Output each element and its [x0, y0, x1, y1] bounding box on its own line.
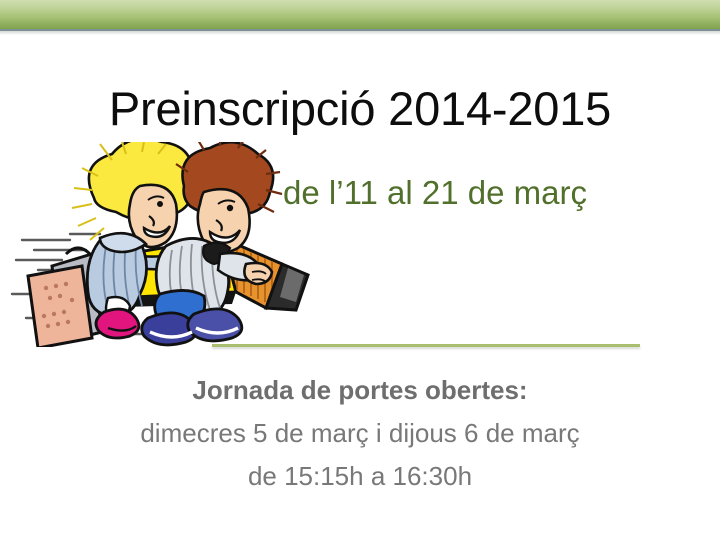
decorative-green-band: [0, 0, 720, 29]
two-children-riding-pencil-clipart: [8, 142, 314, 347]
page-title: Preinscripció 2014-2015: [0, 82, 720, 136]
book: [28, 266, 92, 347]
girl-shoe: [96, 309, 139, 338]
open-day-heading: Jornada de portes obertes:: [60, 369, 660, 412]
open-day-dates: dimecres 5 de març i dijous 6 de març: [60, 412, 660, 455]
open-day-hours: de 15:15h a 16:30h: [60, 455, 660, 498]
horizontal-divider: [212, 344, 640, 347]
boy-hand: [244, 263, 272, 284]
boy-eye: [227, 205, 233, 211]
slide-canvas: Preinscripció 2014-2015 de l’11 al 21 de…: [0, 0, 720, 540]
girl-eye: [157, 201, 163, 207]
open-day-info-block: Jornada de portes obertes: dimecres 5 de…: [60, 369, 660, 498]
boy-shoe-right: [188, 309, 242, 341]
clipart-svg: [8, 142, 314, 347]
band-drop-shadow: [0, 31, 720, 35]
